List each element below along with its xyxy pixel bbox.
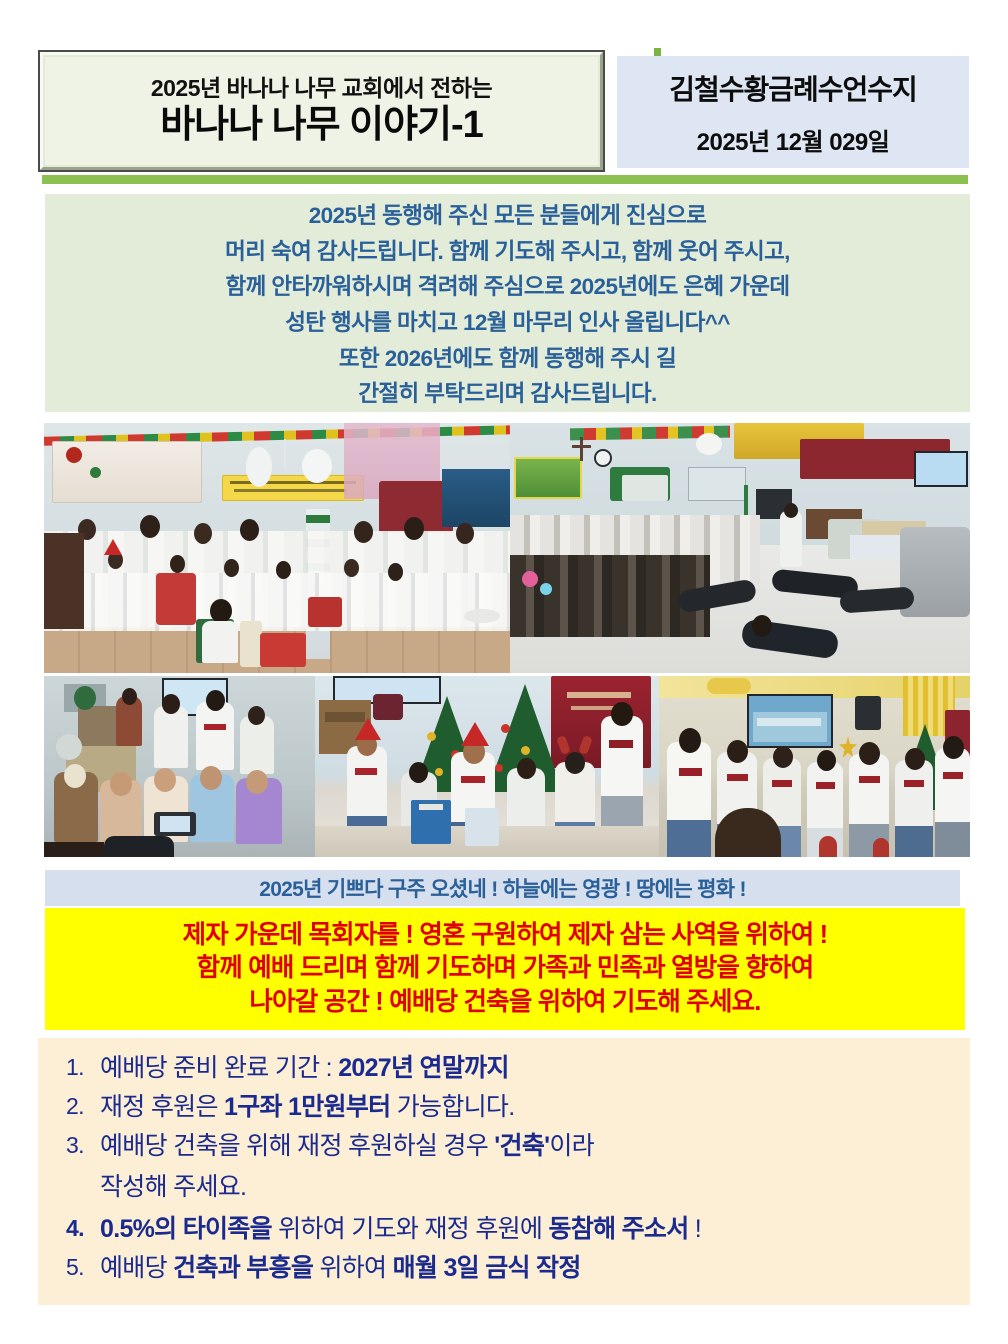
list-item-number: 3. [56, 1134, 100, 1157]
list-item-post: 이라 [549, 1132, 594, 1160]
list-item: 2. 재정 후원은 1구좌 1만원부터 가능합니다. [38, 1095, 970, 1120]
photo-children-dancing [315, 676, 659, 857]
issue-date: 2025년 12월 029일 [697, 122, 890, 157]
newsletter-title: 바나나 나무 이야기-1 [160, 106, 483, 146]
list-item-bold2: 매월 3일 금식 작정 [393, 1254, 581, 1282]
newsletter-title-box: 2025년 바나나 나무 교회에서 전하는 바나나 나무 이야기-1 [40, 52, 603, 170]
list-item-post: 위하여 [313, 1254, 392, 1282]
list-item-text: 예배당 건축을 위해 재정 후원하실 경우 '건축'이라 [100, 1134, 594, 1159]
list-item-text: 예배당 건축과 부흥을 위하여 매월 3일 금식 작정 [100, 1256, 581, 1281]
list-item: 1. 예배당 준비 완료 기간 : 2027년 연말까지 [38, 1056, 970, 1081]
list-item-bold: 0.5%의 타이족을 [100, 1215, 272, 1243]
greeting-line: 함께 안타까워하시며 격려해 주심으로 2025년에도 은혜 가운데 [226, 269, 790, 305]
list-item-number: 2. [56, 1095, 100, 1118]
greeting-line: 2025년 동행해 주신 모든 분들에게 진심으로 [309, 198, 707, 234]
greeting-line: 또한 2026년에도 함께 동행해 주시 길 [339, 341, 676, 377]
photo-row-bottom [44, 676, 970, 857]
list-item-continuation-text: 작성해 주세요. [100, 1173, 246, 1201]
photo-row-top [44, 423, 970, 673]
list-item-post: 가능합니다. [390, 1093, 514, 1121]
sender-info-box: 김철수황금례수언수지 2025년 12월 029일 [617, 56, 969, 168]
christmas-proclamation-banner: 2025년 기쁘다 구주 오셨네 ! 하늘에는 영광 ! 땅에는 평화 ! [45, 870, 960, 906]
prayer-request-line: 함께 예배 드리며 함께 기도하며 가족과 민족과 열방을 향하여 [197, 952, 814, 986]
support-items: 1. 예배당 준비 완료 기간 : 2027년 연말까지 2. 재정 후원은 1… [38, 1056, 970, 1281]
list-item: 3. 예배당 건축을 위해 재정 후원하실 경우 '건축'이라 [38, 1134, 970, 1159]
support-info-list: 1. 예배당 준비 완료 기간 : 2027년 연말까지 2. 재정 후원은 1… [38, 1038, 970, 1305]
photo-children-choir [659, 676, 970, 857]
photo-group-congregation [44, 423, 510, 673]
list-item-number: 5. [56, 1256, 100, 1279]
list-item-continuation: 작성해 주세요. [38, 1167, 970, 1203]
green-divider [42, 175, 968, 184]
list-item-bold: 건축과 부흥을 [173, 1254, 313, 1282]
list-item-text: 예배당 준비 완료 기간 : 2027년 연말까지 [100, 1056, 509, 1081]
greeting-block: 2025년 동행해 주신 모든 분들에게 진심으로 머리 숙여 감사드립니다. … [45, 194, 970, 412]
list-item-bold2: 동참해 주소서 [548, 1215, 688, 1243]
photo-worship-hall [510, 423, 970, 673]
list-item-post: 위하여 기도와 재정 후원에 [272, 1215, 549, 1243]
greeting-line: 머리 숙여 감사드립니다. 함께 기도해 주시고, 함께 웃어 주시고, [225, 234, 790, 270]
newsletter-page: 2025년 바나나 나무 교회에서 전하는 바나나 나무 이야기-1 김철수황금… [0, 0, 1008, 1344]
list-item-pre: 재정 후원은 [100, 1093, 224, 1121]
prayer-request-line: 나아갈 공간 ! 예배당 건축을 위하여 기도해 주세요. [249, 986, 760, 1020]
list-item-number: 1. [56, 1056, 100, 1079]
list-item: 4. 0.5%의 타이족을 위하여 기도와 재정 후원에 동참해 주소서 ! [38, 1217, 970, 1242]
photo-grid [44, 423, 970, 857]
list-item-pre: 예배당 [100, 1254, 173, 1282]
prayer-request-line: 제자 가운데 목회자를 ! 영혼 구원하여 제자 삼는 사역을 위하여 ! [183, 919, 828, 953]
list-item: 5. 예배당 건축과 부흥을 위하여 매월 3일 금식 작정 [38, 1256, 970, 1281]
list-item-text: 0.5%의 타이족을 위하여 기도와 재정 후원에 동참해 주소서 ! [100, 1217, 701, 1242]
greeting-line: 성탄 행사를 마치고 12월 마무리 인사 올립니다^^ [285, 305, 730, 341]
greeting-line: 간절히 부탁드리며 감사드립니다. [358, 376, 656, 412]
list-item-bold: '건축' [494, 1132, 549, 1160]
list-item-pre: 예배당 건축을 위해 재정 후원하실 경우 [100, 1132, 494, 1160]
christmas-proclamation-text: 2025년 기쁘다 구주 오셨네 ! 하늘에는 영광 ! 땅에는 평화 ! [259, 873, 746, 903]
list-item-number: 4. [56, 1217, 100, 1240]
list-item-bold: 1구좌 1만원부터 [224, 1093, 390, 1121]
list-item-text: 재정 후원은 1구좌 1만원부터 가능합니다. [100, 1095, 514, 1120]
list-item-pre: 예배당 준비 완료 기간 : [100, 1054, 338, 1082]
newsletter-subtitle: 2025년 바나나 나무 교회에서 전하는 [151, 76, 492, 101]
sender-name: 김철수황금례수언수지 [669, 68, 917, 108]
photo-nativity-play [44, 676, 315, 857]
list-item-post2: ! [689, 1215, 702, 1243]
list-item-bold: 2027년 연말까지 [338, 1054, 509, 1082]
prayer-request-block: 제자 가운데 목회자를 ! 영혼 구원하여 제자 삼는 사역을 위하여 ! 함께… [45, 908, 965, 1030]
